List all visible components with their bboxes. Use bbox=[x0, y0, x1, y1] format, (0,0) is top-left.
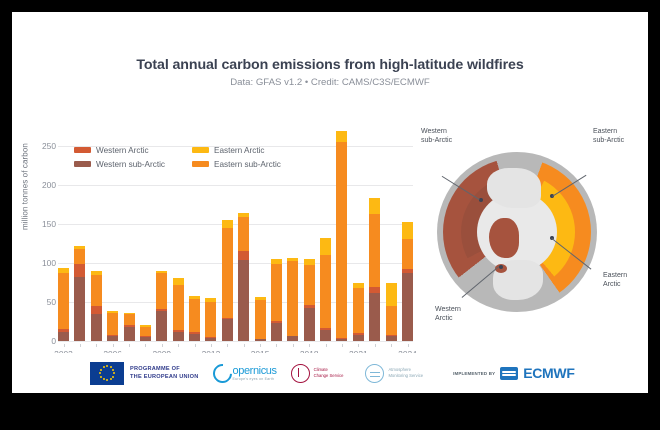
cams-line2: Monitoring Service bbox=[388, 373, 423, 379]
c3s-logo: Climate Change Service bbox=[291, 364, 344, 383]
bar-2010[interactable] bbox=[173, 278, 184, 341]
map-label-western-arctic-line1: Western bbox=[435, 306, 461, 315]
bar-segment-eastern-sub-arctic bbox=[336, 142, 347, 337]
bar-2007[interactable] bbox=[124, 313, 135, 341]
bar-segment-western-sub-arctic bbox=[124, 327, 135, 341]
bar-segment-eastern-arctic bbox=[222, 220, 233, 229]
eu-star-icon bbox=[103, 378, 105, 380]
bar-segment-western-sub-arctic bbox=[173, 332, 184, 341]
bar-2006[interactable] bbox=[107, 311, 118, 341]
bar-2022[interactable] bbox=[369, 198, 380, 341]
bar-segment-western-sub-arctic bbox=[74, 277, 85, 341]
map-label-eastern-arctic: Eastern Arctic bbox=[603, 272, 627, 290]
c3s-line2: Change Service bbox=[314, 373, 344, 379]
copernicus-tagline: Europe's eyes on Earth bbox=[233, 377, 277, 381]
eu-star-icon bbox=[106, 365, 108, 367]
bar-segment-eastern-sub-arctic bbox=[304, 265, 315, 305]
bar-segment-western-sub-arctic bbox=[304, 308, 315, 341]
bar-segment-western-sub-arctic bbox=[369, 293, 380, 341]
eu-star-icon bbox=[110, 366, 112, 368]
legend-label-eastern-arctic: Eastern Arctic bbox=[214, 146, 265, 155]
bar-segment-eastern-sub-arctic bbox=[271, 264, 282, 321]
eu-programme-line2: THE EUROPEAN UNION bbox=[130, 373, 199, 381]
cams-logo: Atmosphere Monitoring Service bbox=[365, 364, 423, 383]
x-axis-tickmark bbox=[358, 344, 359, 347]
bar-segment-eastern-sub-arctic bbox=[74, 249, 85, 264]
legend-item-western-sub-arctic: Western sub-Arctic bbox=[74, 157, 192, 171]
map-dot-western-arctic bbox=[499, 265, 503, 269]
bar-segment-eastern-sub-arctic bbox=[189, 299, 200, 333]
map-label-eastern-sub-arctic: Eastern sub-Arctic bbox=[593, 128, 624, 146]
legend-label-eastern-sub-arctic: Eastern sub-Arctic bbox=[214, 160, 281, 169]
bar-2023[interactable] bbox=[386, 283, 397, 341]
bar-2005[interactable] bbox=[91, 271, 102, 341]
y-axis-tick-label: 250 bbox=[16, 141, 56, 151]
bar-2021[interactable] bbox=[353, 283, 364, 341]
bar-segment-western-arctic bbox=[238, 251, 249, 260]
x-axis-tickmark bbox=[375, 344, 376, 347]
c3s-text: Climate Change Service bbox=[314, 367, 344, 380]
bar-2003[interactable] bbox=[58, 268, 69, 341]
eu-programme-text: PROGRAMME OF THE EUROPEAN UNION bbox=[130, 365, 199, 381]
chart-legend: Western Arctic Eastern Arctic Western su… bbox=[74, 143, 299, 171]
c3s-mark-icon bbox=[291, 364, 310, 383]
bar-segment-western-sub-arctic bbox=[205, 338, 216, 341]
bar-segment-eastern-sub-arctic bbox=[107, 313, 118, 335]
bar-segment-eastern-sub-arctic bbox=[205, 302, 216, 337]
bar-segment-western-sub-arctic bbox=[91, 314, 102, 341]
x-axis-tickmark bbox=[276, 344, 277, 347]
bar-segment-eastern-sub-arctic bbox=[140, 327, 151, 336]
bar-segment-western-sub-arctic bbox=[320, 330, 331, 341]
bar-segment-eastern-sub-arctic bbox=[124, 314, 135, 325]
bar-segment-eastern-arctic bbox=[369, 198, 380, 214]
bar-segment-western-sub-arctic bbox=[336, 339, 347, 341]
x-axis-tickmark bbox=[211, 344, 212, 347]
bar-segment-western-sub-arctic bbox=[189, 334, 200, 341]
x-axis-tickmark bbox=[293, 344, 294, 347]
chart-plot-area: million tonnes of carbon 050100150200250… bbox=[12, 12, 422, 352]
bar-segment-eastern-sub-arctic bbox=[255, 300, 266, 339]
bar-2019[interactable] bbox=[320, 238, 331, 341]
x-axis-tickmark bbox=[260, 344, 261, 347]
bar-segment-western-sub-arctic bbox=[140, 337, 151, 341]
x-axis-tickmark bbox=[244, 344, 245, 347]
x-axis-tickmark bbox=[113, 344, 114, 347]
y-axis-tick-label: 100 bbox=[16, 258, 56, 268]
legend-label-western-sub-arctic: Western sub-Arctic bbox=[96, 160, 165, 169]
bar-segment-eastern-sub-arctic bbox=[173, 285, 184, 330]
eu-star-icon bbox=[99, 372, 101, 374]
eu-star-icon bbox=[113, 372, 115, 374]
logo-row: PROGRAMME OF THE EUROPEAN UNION opernicu… bbox=[90, 357, 590, 389]
bar-segment-eastern-sub-arctic bbox=[386, 306, 397, 335]
y-axis-tick-label: 0 bbox=[16, 336, 56, 346]
bar-segment-western-arctic bbox=[74, 264, 85, 277]
implemented-by-label: IMPLEMENTED BY bbox=[453, 371, 495, 376]
x-axis-tickmark bbox=[129, 344, 130, 347]
bar-2013[interactable] bbox=[222, 220, 233, 341]
x-axis-tickmark bbox=[408, 344, 409, 347]
bar-segment-western-sub-arctic bbox=[238, 260, 249, 341]
bar-2014[interactable] bbox=[238, 213, 249, 341]
bar-2004[interactable] bbox=[74, 246, 85, 341]
x-axis-tickmark bbox=[96, 344, 97, 347]
ecmwf-mark-icon bbox=[500, 367, 518, 380]
bar-2018[interactable] bbox=[304, 259, 315, 341]
map-label-western-arctic-line2: Arctic bbox=[435, 315, 461, 324]
bar-2024[interactable] bbox=[402, 222, 413, 341]
eu-star-icon bbox=[100, 369, 102, 371]
bar-2016[interactable] bbox=[271, 259, 282, 341]
y-axis-tick-label: 150 bbox=[16, 219, 56, 229]
bar-segment-eastern-arctic bbox=[386, 283, 397, 306]
x-axis-tickmark bbox=[309, 344, 310, 347]
bar-segment-eastern-sub-arctic bbox=[353, 288, 364, 333]
bar-segment-western-sub-arctic bbox=[255, 339, 266, 341]
bar-segment-eastern-sub-arctic bbox=[238, 217, 249, 251]
eu-logo: PROGRAMME OF THE EUROPEAN UNION bbox=[90, 362, 199, 385]
x-axis-tickmark bbox=[227, 344, 228, 347]
bar-2011[interactable] bbox=[189, 296, 200, 341]
infographic-card: Total annual carbon emissions from high-… bbox=[12, 12, 648, 393]
x-axis-tickmark bbox=[326, 344, 327, 347]
bar-segment-western-sub-arctic bbox=[386, 336, 397, 341]
y-axis-tick-label: 50 bbox=[16, 297, 56, 307]
bar-segment-western-sub-arctic bbox=[107, 336, 118, 341]
bar-segment-eastern-sub-arctic bbox=[369, 214, 380, 287]
eu-star-icon bbox=[112, 376, 114, 378]
cams-mark-icon bbox=[365, 364, 384, 383]
x-axis-tickmark bbox=[80, 344, 81, 347]
legend-item-western-arctic: Western Arctic bbox=[74, 143, 192, 157]
map-label-eastern-arctic-line2: Arctic bbox=[603, 281, 627, 290]
bar-segment-eastern-sub-arctic bbox=[156, 273, 167, 309]
bar-segment-western-arctic bbox=[91, 306, 102, 315]
eu-flag-icon bbox=[90, 362, 124, 385]
eu-star-icon bbox=[112, 369, 114, 371]
bar-segment-western-sub-arctic bbox=[222, 319, 233, 341]
x-axis-tickmark bbox=[162, 344, 163, 347]
copernicus-c-icon bbox=[209, 360, 236, 387]
legend-label-western-arctic: Western Arctic bbox=[96, 146, 149, 155]
bar-segment-eastern-arctic bbox=[336, 131, 347, 143]
map-label-western-sub-arctic-line2: sub-Arctic bbox=[421, 137, 452, 146]
bar-segment-western-sub-arctic bbox=[271, 323, 282, 341]
map-greenland-patch bbox=[489, 218, 519, 258]
legend-swatch-western-sub-arctic bbox=[74, 161, 91, 167]
x-axis-tickmark bbox=[64, 344, 65, 347]
eu-star-icon bbox=[103, 366, 105, 368]
arctic-region-map: Western sub-Arctic Eastern sub-Arctic Ea… bbox=[417, 120, 648, 352]
eu-star-icon bbox=[106, 379, 108, 381]
bar-segment-eastern-sub-arctic bbox=[91, 275, 102, 305]
map-label-eastern-sub-arctic-line1: Eastern bbox=[593, 128, 624, 137]
bar-segment-eastern-arctic bbox=[320, 238, 331, 255]
bar-segment-western-sub-arctic bbox=[58, 332, 69, 341]
bar-segment-eastern-sub-arctic bbox=[402, 239, 413, 269]
legend-item-eastern-arctic: Eastern Arctic bbox=[192, 143, 310, 157]
bar-segment-eastern-sub-arctic bbox=[58, 273, 69, 329]
gridline bbox=[58, 341, 413, 342]
bar-2020[interactable] bbox=[336, 131, 347, 341]
bar-2012[interactable] bbox=[205, 298, 216, 341]
map-label-eastern-sub-arctic-line2: sub-Arctic bbox=[593, 137, 624, 146]
footer-logo-bar: PROGRAMME OF THE EUROPEAN UNION opernicu… bbox=[12, 353, 648, 393]
copernicus-wordmark: opernicus bbox=[233, 365, 277, 377]
eu-star-icon bbox=[100, 376, 102, 378]
copernicus-logo: opernicus Europe's eyes on Earth bbox=[213, 364, 277, 383]
bar-2009[interactable] bbox=[156, 271, 167, 341]
x-axis-tickmark bbox=[342, 344, 343, 347]
bar-segment-western-sub-arctic bbox=[287, 336, 298, 341]
polar-projection-globe bbox=[437, 152, 597, 312]
bar-segment-western-sub-arctic bbox=[156, 311, 167, 341]
bar-segment-eastern-sub-arctic bbox=[222, 228, 233, 317]
eu-programme-line1: PROGRAMME OF bbox=[130, 365, 199, 373]
y-axis-tick-label: 200 bbox=[16, 180, 56, 190]
x-axis-tickmark bbox=[178, 344, 179, 347]
legend-item-eastern-sub-arctic: Eastern sub-Arctic bbox=[192, 157, 310, 171]
cams-text: Atmosphere Monitoring Service bbox=[388, 367, 423, 380]
ecmwf-wordmark: ECMWF bbox=[523, 365, 574, 381]
map-label-eastern-arctic-line1: Eastern bbox=[603, 272, 627, 281]
bar-2015[interactable] bbox=[255, 297, 266, 341]
legend-swatch-eastern-sub-arctic bbox=[192, 161, 209, 167]
map-label-western-sub-arctic-line1: Western bbox=[421, 128, 452, 137]
bar-segment-western-sub-arctic bbox=[402, 273, 413, 341]
x-axis-tickmark bbox=[195, 344, 196, 347]
eu-star-icon bbox=[110, 378, 112, 380]
bar-segment-eastern-sub-arctic bbox=[320, 255, 331, 328]
map-label-western-sub-arctic: Western sub-Arctic bbox=[421, 128, 452, 146]
map-label-western-arctic: Western Arctic bbox=[435, 306, 461, 324]
x-axis-tickmark bbox=[391, 344, 392, 347]
bar-segment-western-sub-arctic bbox=[353, 335, 364, 341]
bar-2008[interactable] bbox=[140, 325, 151, 341]
map-land-mask-upper bbox=[487, 168, 541, 208]
bar-segment-eastern-sub-arctic bbox=[287, 261, 298, 335]
legend-swatch-eastern-arctic bbox=[192, 147, 209, 153]
bar-2017[interactable] bbox=[287, 258, 298, 341]
bar-segment-eastern-arctic bbox=[402, 222, 413, 239]
ecmwf-logo: IMPLEMENTED BY ECMWF bbox=[453, 365, 574, 381]
x-axis-tickmark bbox=[145, 344, 146, 347]
legend-swatch-western-arctic bbox=[74, 147, 91, 153]
